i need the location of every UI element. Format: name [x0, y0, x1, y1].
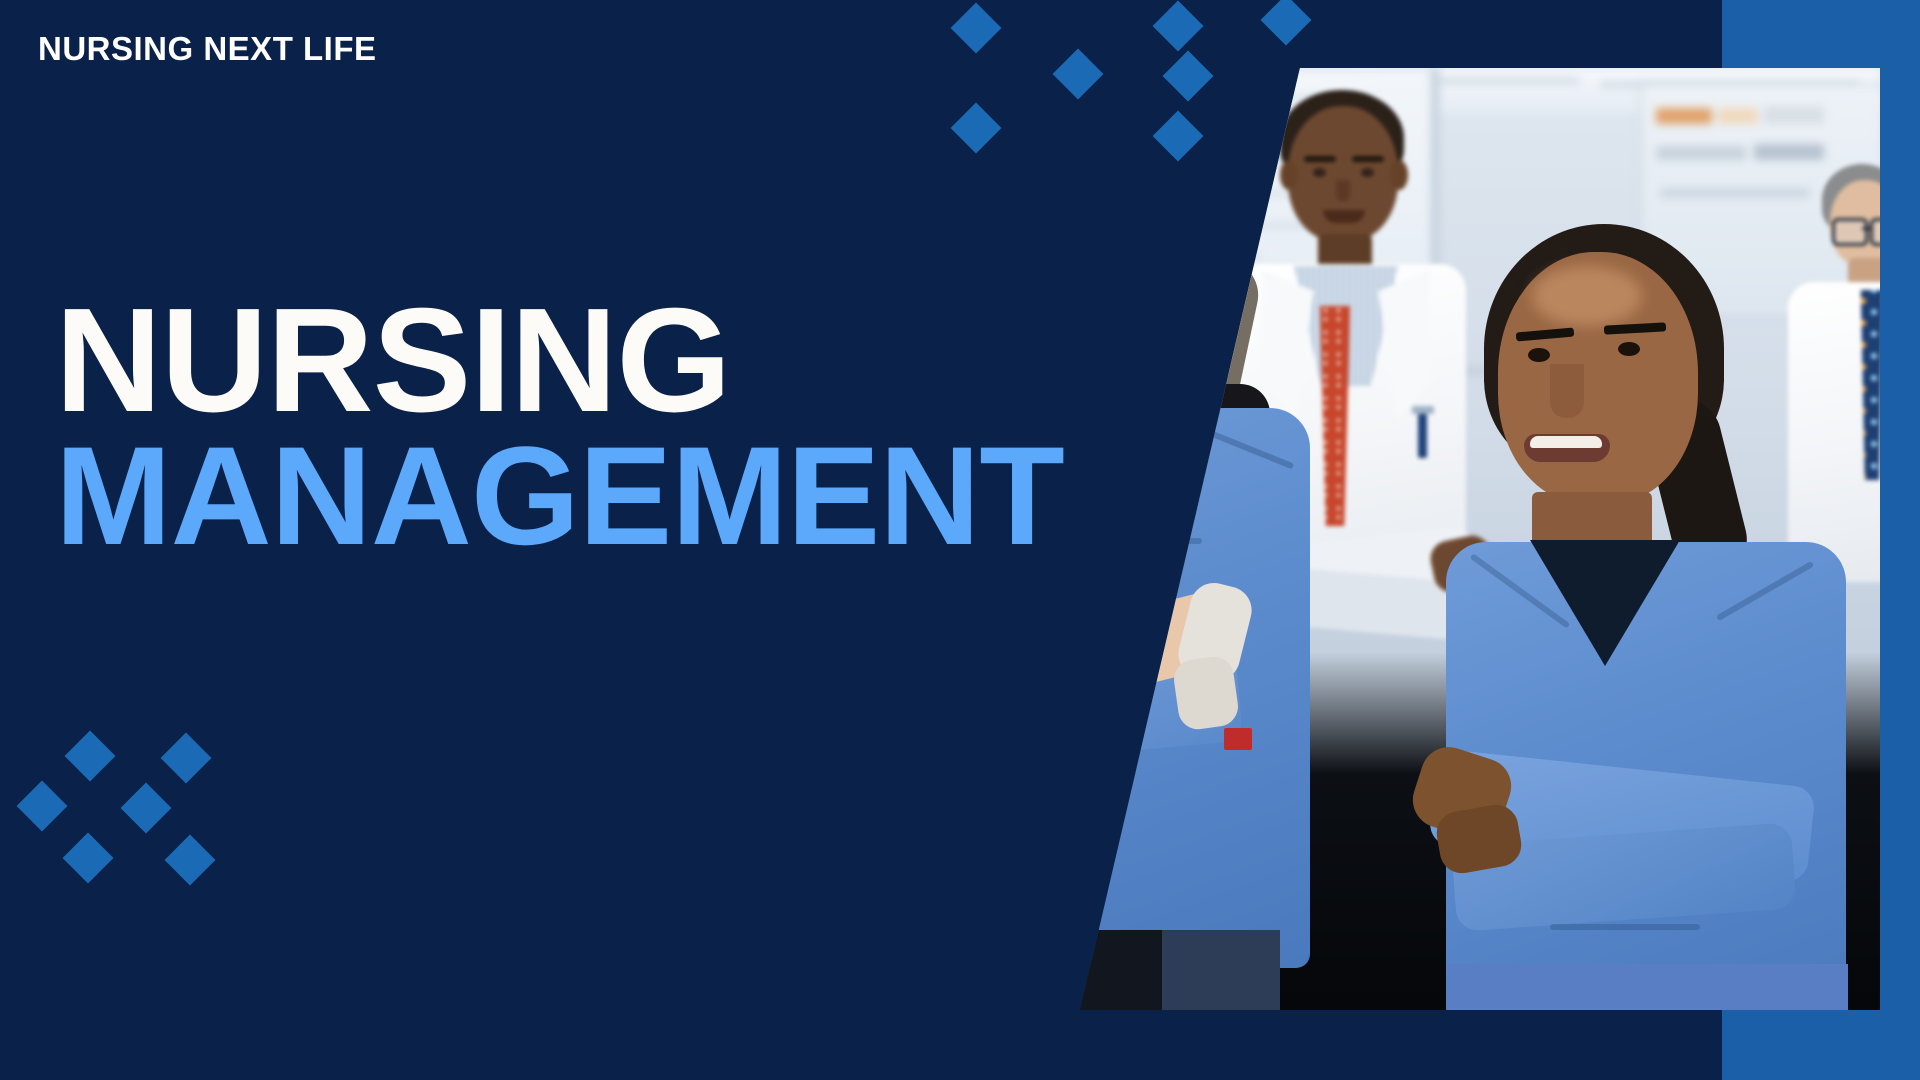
diamond-shape: [1153, 111, 1204, 162]
diamond-shape: [165, 835, 216, 886]
diamond-shape: [1163, 51, 1214, 102]
diamond-shape: [161, 733, 212, 784]
photo-content: [1080, 68, 1880, 1010]
healthcare-team-photo: [1080, 68, 1880, 1010]
brand-logotype: NURSING NEXT LIFE: [38, 30, 377, 68]
diamond-shape: [1053, 49, 1104, 100]
diamond-shape: [63, 833, 114, 884]
headline-line-primary: NURSING: [55, 288, 1064, 433]
page-title: NURSING MANAGEMENT: [55, 288, 1064, 564]
headline-line-secondary: MANAGEMENT: [55, 427, 1064, 564]
poster-canvas: NURSING NEXT LIFE NURSING MANAGEMENT: [0, 0, 1920, 1080]
diamond-shape: [121, 783, 172, 834]
diamond-shape: [65, 731, 116, 782]
uniform-badge: [1224, 728, 1252, 750]
diamond-shape: [1153, 1, 1204, 52]
diamond-shape: [951, 103, 1002, 154]
diamond-shape: [951, 3, 1002, 54]
diamond-shape: [1261, 0, 1312, 45]
diamond-shape: [17, 781, 68, 832]
pocket-pen: [1418, 412, 1427, 458]
